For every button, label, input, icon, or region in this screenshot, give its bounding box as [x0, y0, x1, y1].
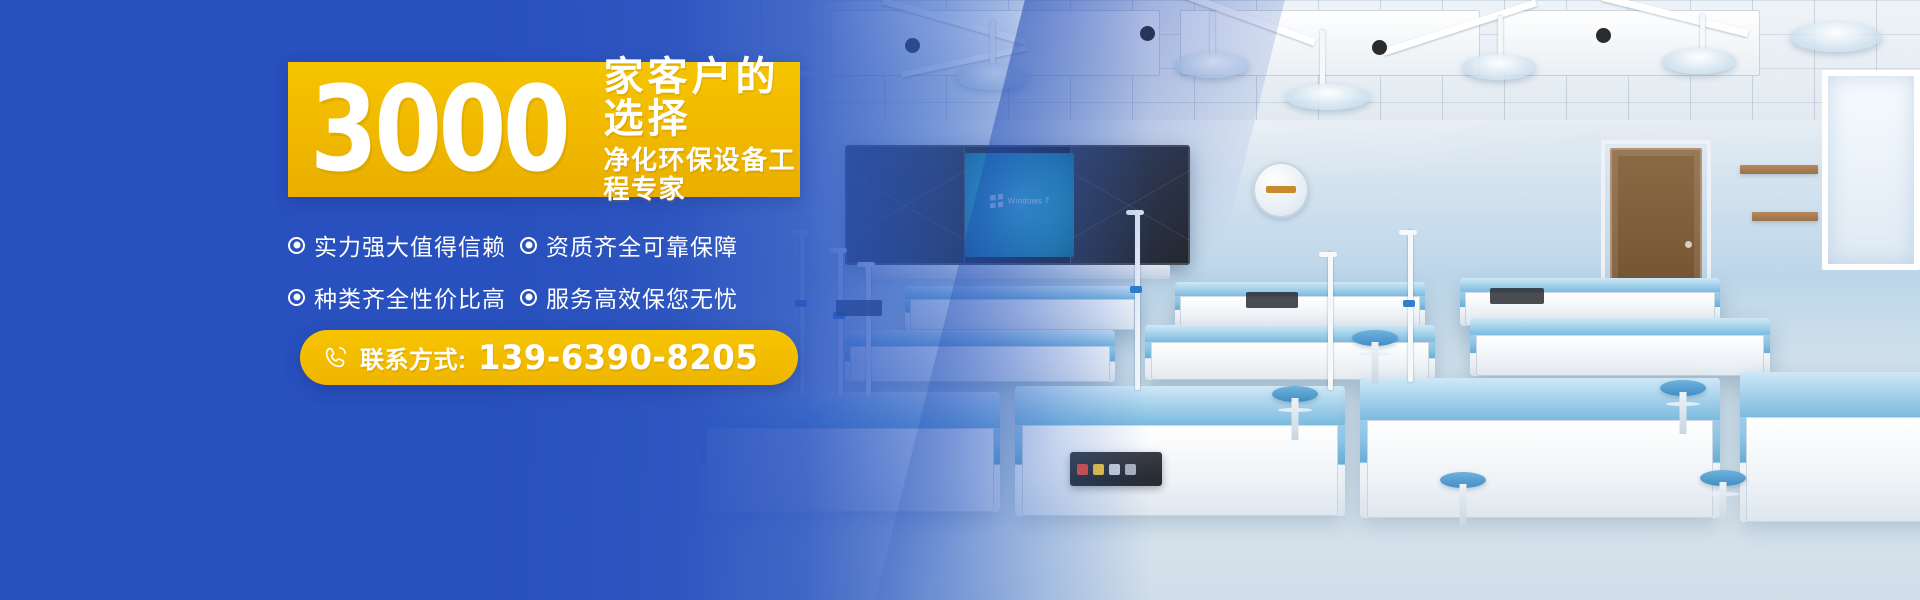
headline-text-group: 家客户的选择 净化环保设备工程专家 [603, 56, 800, 203]
window [1822, 70, 1920, 270]
lab-stool [1660, 380, 1706, 396]
arm-joint [1372, 40, 1387, 55]
headline-banner: 3000 家客户的选择 净化环保设备工程专家 [288, 62, 800, 197]
feature-item-variety: 种类齐全性价比高 [288, 280, 496, 314]
feature-item-qualification: 资质齐全可靠保障 [520, 228, 738, 262]
headline-main: 家客户的选择 [603, 56, 800, 140]
bench-body [1476, 335, 1764, 376]
ceiling-lamp [1790, 22, 1882, 52]
circle-bullet-icon [520, 237, 537, 254]
lab-stool [1352, 330, 1398, 346]
feature-item-strength: 实力强大值得信赖 [288, 228, 496, 262]
headline-sub: 净化环保设备工程专家 [603, 146, 800, 203]
bench-top [1740, 372, 1920, 417]
lamp-rod [1320, 30, 1325, 88]
wall-shelf [1740, 165, 1818, 174]
bench-sink [1246, 292, 1298, 308]
phone-icon [322, 344, 349, 371]
contact-phone-button[interactable]: 联系方式: 139-6390-8205 [300, 330, 798, 385]
lab-bench [1470, 318, 1770, 376]
contact-number: 139-6390-8205 [478, 338, 758, 378]
feature-label: 实力强大值得信赖 [314, 228, 506, 262]
feature-row: 种类齐全性价比高 服务高效保您无忧 [288, 280, 808, 314]
faucet-handle [1403, 300, 1415, 307]
feature-label: 种类齐全性价比高 [314, 280, 506, 314]
feature-label: 服务高效保您无忧 [546, 280, 738, 314]
feature-row: 实力强大值得信赖 资质齐全可靠保障 [288, 228, 808, 262]
customer-count: 3000 [310, 79, 567, 180]
contact-label: 联系方式: [360, 340, 467, 375]
ceiling-lamp [1285, 84, 1371, 110]
feature-list: 实力强大值得信赖 资质齐全可靠保障 种类齐全性价比高 服务高效保您无忧 [288, 228, 808, 332]
bench-faucet [1328, 252, 1333, 390]
bench-sink [1490, 288, 1544, 304]
feature-item-service: 服务高效保您无忧 [520, 280, 738, 314]
promo-banner: Windows 7 [0, 0, 1920, 600]
wall-emblem [1253, 162, 1309, 218]
circle-bullet-icon [520, 289, 537, 306]
arm-joint [1596, 28, 1611, 43]
wall-shelf [1752, 212, 1818, 221]
circle-bullet-icon [288, 289, 305, 306]
ceiling-lamp [1662, 48, 1736, 74]
ceiling-lamp [1462, 54, 1536, 80]
banner-content: 3000 家客户的选择 净化环保设备工程专家 实力强大值得信赖 资质齐全可靠保障 [0, 0, 900, 600]
circle-bullet-icon [288, 237, 305, 254]
feature-label: 资质齐全可靠保障 [546, 228, 738, 262]
lab-stool [1272, 386, 1318, 402]
bench-top [1470, 318, 1770, 335]
bench-body [1180, 296, 1420, 328]
